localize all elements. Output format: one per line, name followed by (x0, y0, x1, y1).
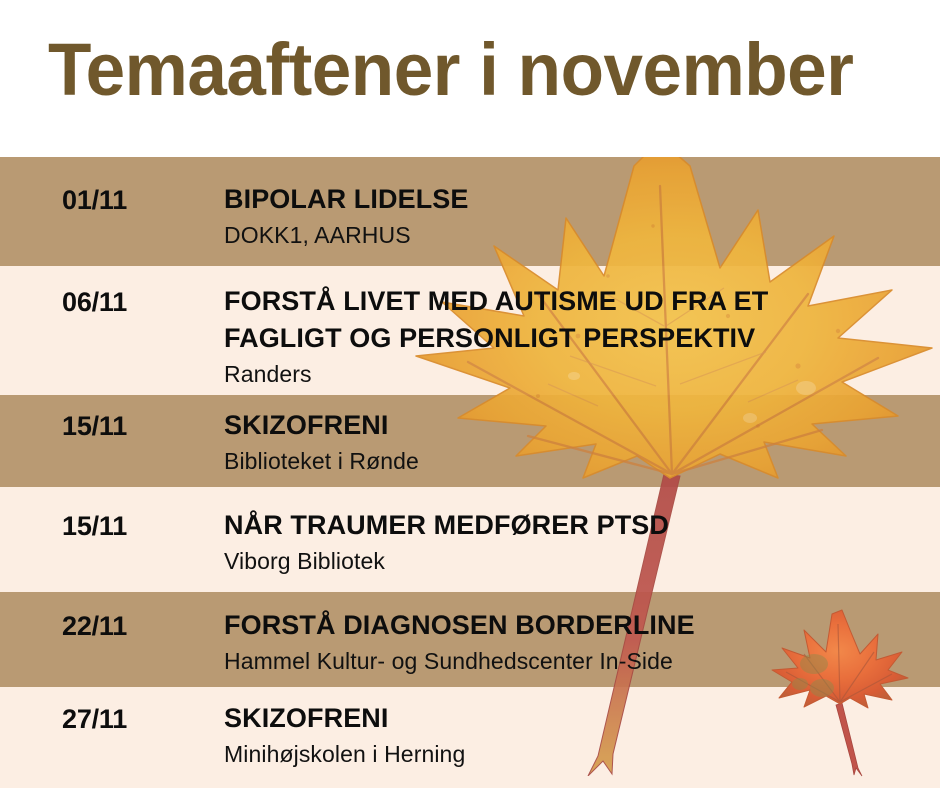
row-body: FORSTÅ DIAGNOSEN BORDERLINE Hammel Kultu… (224, 607, 930, 676)
row-venue: Randers (224, 359, 930, 389)
row-date: 15/11 (62, 411, 127, 442)
row-date: 01/11 (62, 185, 127, 216)
row-title: FORSTÅ DIAGNOSEN BORDERLINE (224, 607, 930, 644)
row-body: FORSTÅ LIVET MED AUTISME UD FRA ET FAGLI… (224, 283, 930, 389)
row-body: SKIZOFRENI Minihøjskolen i Herning (224, 700, 930, 769)
row-venue: Hammel Kultur- og Sundhedscenter In-Side (224, 646, 930, 676)
row-date: 27/11 (62, 704, 127, 735)
page-title: Temaaftener i november (48, 28, 853, 112)
row-venue: Biblioteket i Rønde (224, 446, 930, 476)
row-body: NÅR TRAUMER MEDFØRER PTSD Viborg Bibliot… (224, 507, 930, 576)
row-title: SKIZOFRENI (224, 700, 930, 737)
row-date: 06/11 (62, 287, 127, 318)
schedule-row: 15/11 SKIZOFRENI Biblioteket i Rønde (0, 395, 940, 487)
schedule-row: 22/11 FORSTÅ DIAGNOSEN BORDERLINE Hammel… (0, 592, 940, 687)
row-title: NÅR TRAUMER MEDFØRER PTSD (224, 507, 930, 544)
poster-canvas: Temaaftener i november 01/11 BIPOLAR LID… (0, 0, 940, 788)
schedule-row: 15/11 NÅR TRAUMER MEDFØRER PTSD Viborg B… (0, 487, 940, 592)
schedule-row: 06/11 FORSTÅ LIVET MED AUTISME UD FRA ET… (0, 266, 940, 395)
row-venue: Minihøjskolen i Herning (224, 739, 930, 769)
row-body: SKIZOFRENI Biblioteket i Rønde (224, 407, 930, 476)
row-title: FORSTÅ LIVET MED AUTISME UD FRA ET FAGLI… (224, 283, 930, 357)
schedule-row: 01/11 BIPOLAR LIDELSE DOKK1, AARHUS (0, 157, 940, 266)
row-venue: DOKK1, AARHUS (224, 220, 930, 250)
row-title: SKIZOFRENI (224, 407, 930, 444)
row-date: 22/11 (62, 611, 127, 642)
row-body: BIPOLAR LIDELSE DOKK1, AARHUS (224, 181, 930, 250)
row-venue: Viborg Bibliotek (224, 546, 930, 576)
row-date: 15/11 (62, 511, 127, 542)
row-title: BIPOLAR LIDELSE (224, 181, 930, 218)
poster-header: Temaaftener i november (0, 0, 940, 157)
schedule-row: 27/11 SKIZOFRENI Minihøjskolen i Herning (0, 687, 940, 788)
